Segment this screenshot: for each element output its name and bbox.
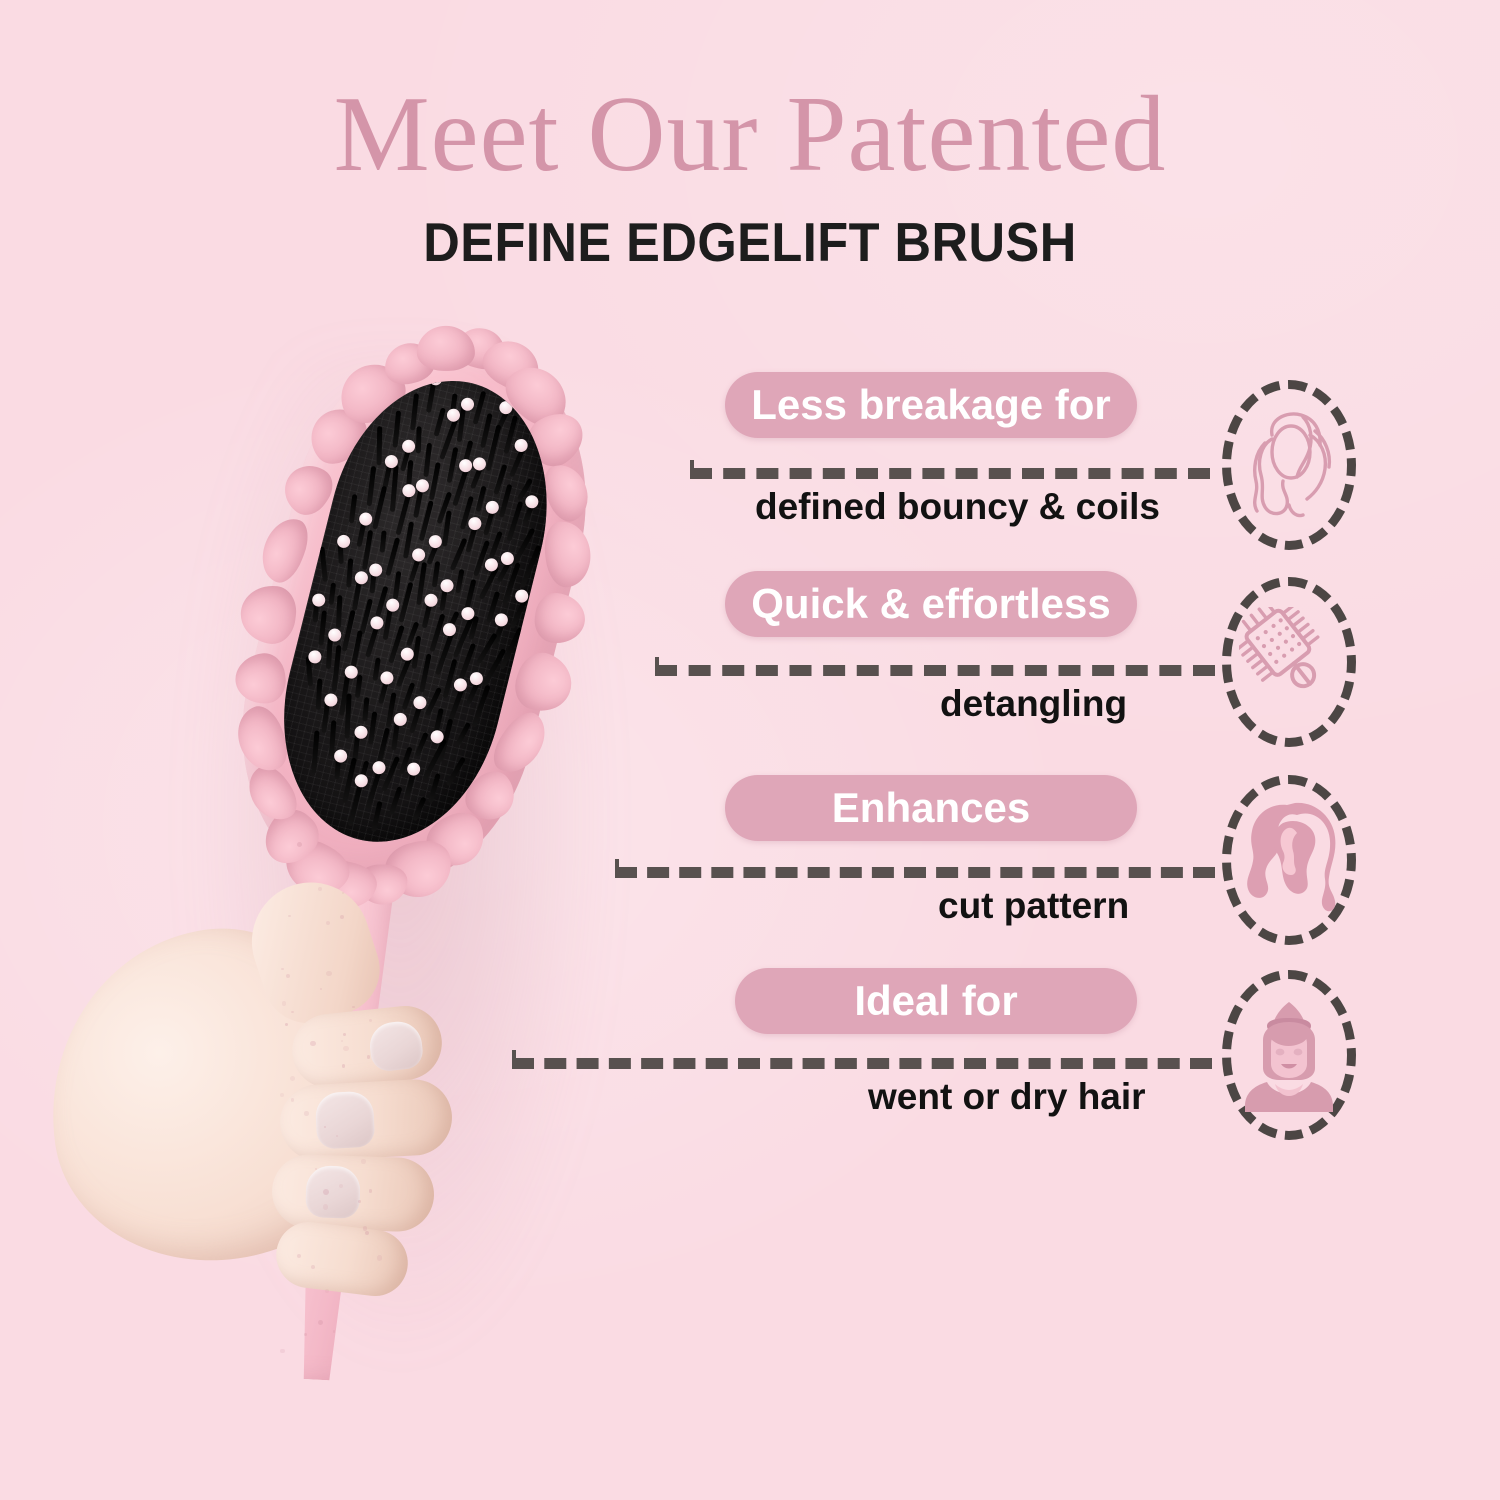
woman-avatar-icon [1237, 994, 1341, 1116]
feature-3-icon-curly-hair-silhouette-icon [1222, 775, 1356, 945]
handle-speckle [361, 1159, 365, 1163]
handle-speckle [333, 1330, 335, 1332]
handle-speckle [363, 1226, 367, 1230]
feature-3-sublabel: cut pattern [938, 885, 1129, 927]
feature-row-2: Quick & effortless detangling [0, 555, 1500, 755]
handle-speckle [325, 1289, 329, 1293]
feature-2-tick-left [655, 657, 659, 673]
feature-2-pill[interactable]: Quick & effortless [725, 571, 1137, 637]
feature-3-connector [615, 867, 1215, 878]
paddle-brush-icon [1239, 607, 1339, 717]
product-infographic: Meet Our Patented DEFINE EDGELIFT BRUSH [0, 0, 1500, 1500]
handle-speckle [280, 1349, 284, 1353]
handle-speckle [358, 1200, 361, 1203]
feature-1-pill[interactable]: Less breakage for [725, 372, 1137, 438]
feature-3-pill[interactable]: Enhances [725, 775, 1137, 841]
feature-1-connector [690, 468, 1210, 479]
wavy-hair-outline-icon [1241, 405, 1337, 525]
curly-hair-silhouette-icon [1239, 799, 1339, 921]
feature-2-connector [655, 665, 1215, 676]
page-subtitle: DEFINE EDGELIFT BRUSH [60, 210, 1440, 274]
feature-4-sublabel: went or dry hair [868, 1076, 1146, 1118]
feature-1-tick-left [690, 460, 694, 476]
handle-speckle [339, 1184, 343, 1188]
handle-speckle [365, 1231, 369, 1235]
feature-row-1: Less breakage for defined bouncy & coils [0, 360, 1500, 560]
feature-4-tick-left [512, 1050, 516, 1066]
handle-speckle [323, 1204, 328, 1209]
handle-speckle [311, 1265, 315, 1269]
feature-row-3: Enhances cut pattern [0, 755, 1500, 955]
feature-3-tick-left [615, 859, 619, 875]
page-title: Meet Our Patented [0, 78, 1500, 191]
feature-row-4: Ideal for went or dry hair [0, 950, 1500, 1150]
feature-1-sublabel: defined bouncy & coils [755, 486, 1160, 528]
feature-2-sublabel: detangling [940, 683, 1127, 725]
handle-speckle [318, 1320, 323, 1325]
feature-4-pill[interactable]: Ideal for [735, 968, 1137, 1034]
feature-4-icon-woman-avatar-icon [1222, 970, 1356, 1140]
fingernail-ring [305, 1165, 361, 1219]
feature-1-icon-wavy-hair-outline-icon [1222, 380, 1356, 550]
feature-2-icon-paddle-brush-icon [1222, 577, 1356, 747]
feature-4-connector [512, 1058, 1212, 1069]
handle-speckle [315, 1168, 317, 1170]
handle-speckle [323, 1189, 329, 1195]
